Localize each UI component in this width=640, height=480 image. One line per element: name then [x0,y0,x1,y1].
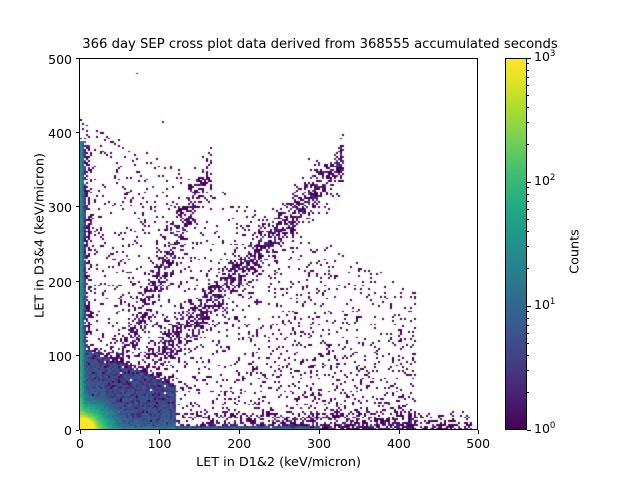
colorbar-minor-tick [527,343,529,344]
colorbar-tick-1e0 [527,430,531,431]
scatter-density-plot [80,59,478,430]
x-tick-200 [239,430,240,434]
colorbar-minor-tick [527,209,529,210]
colorbar-minor-tick [527,219,529,220]
colorbar-minor-tick [527,268,529,269]
colorbar-minor-tick [527,85,529,86]
x-ticklabel-200: 200 [209,436,269,451]
x-tick-100 [159,430,160,434]
colorbar-ticklabel-1e3: 103 [534,49,555,64]
y-tick-100 [76,355,80,356]
x-tick-0 [80,430,81,434]
y-tick-500 [76,58,80,59]
figure-canvas: 366 day SEP cross plot data derived from… [0,0,640,480]
x-tick-400 [399,430,400,434]
colorbar-minor-tick [527,201,529,202]
colorbar-minor-tick [527,70,529,71]
colorbar: 103102101100 [505,58,527,430]
colorbar-ticklabel-1e0: 100 [534,421,555,436]
colorbar-minor-tick [527,392,529,393]
colorbar-minor-tick [527,231,529,232]
colorbar-tick-1e2 [527,182,531,183]
colorbar-minor-tick [527,194,529,195]
colorbar-minor-tick [527,122,529,123]
colorbar-minor-tick [527,318,529,319]
x-ticklabel-300: 300 [289,436,349,451]
x-axis-label: LET in D1&2 (keV/micron) [79,455,478,470]
colorbar-minor-tick [527,107,529,108]
colorbar-minor-tick [527,246,529,247]
y-tick-300 [76,206,80,207]
colorbar-label: Counts [568,132,583,372]
x-tick-500 [478,430,479,434]
colorbar-minor-tick [527,355,529,356]
colorbar-minor-tick [527,333,529,334]
colorbar-ticklabel-1e1: 101 [534,297,555,312]
colorbar-minor-tick [527,311,529,312]
colorbar-minor-tick [527,187,529,188]
colorbar-minor-tick [527,144,529,145]
colorbar-ticklabel-1e2: 102 [534,173,555,188]
colorbar-tick-1e1 [527,306,531,307]
plot-axes-area [79,58,478,430]
y-tick-200 [76,281,80,282]
colorbar-minor-tick [527,77,529,78]
x-ticklabel-500: 500 [448,436,508,451]
colorbar-minor-tick [527,95,529,96]
y-tick-400 [76,132,80,133]
x-tick-300 [319,430,320,434]
y-tick-0 [76,430,80,431]
colorbar-gradient [505,58,527,430]
colorbar-minor-tick [527,325,529,326]
x-ticklabel-400: 400 [369,436,429,451]
colorbar-minor-tick [527,63,529,64]
x-ticklabel-100: 100 [130,436,190,451]
colorbar-minor-tick [527,370,529,371]
colorbar-tick-1e3 [527,58,531,59]
y-axis-label: LET in D3&4 (keV/micron) [33,26,48,446]
